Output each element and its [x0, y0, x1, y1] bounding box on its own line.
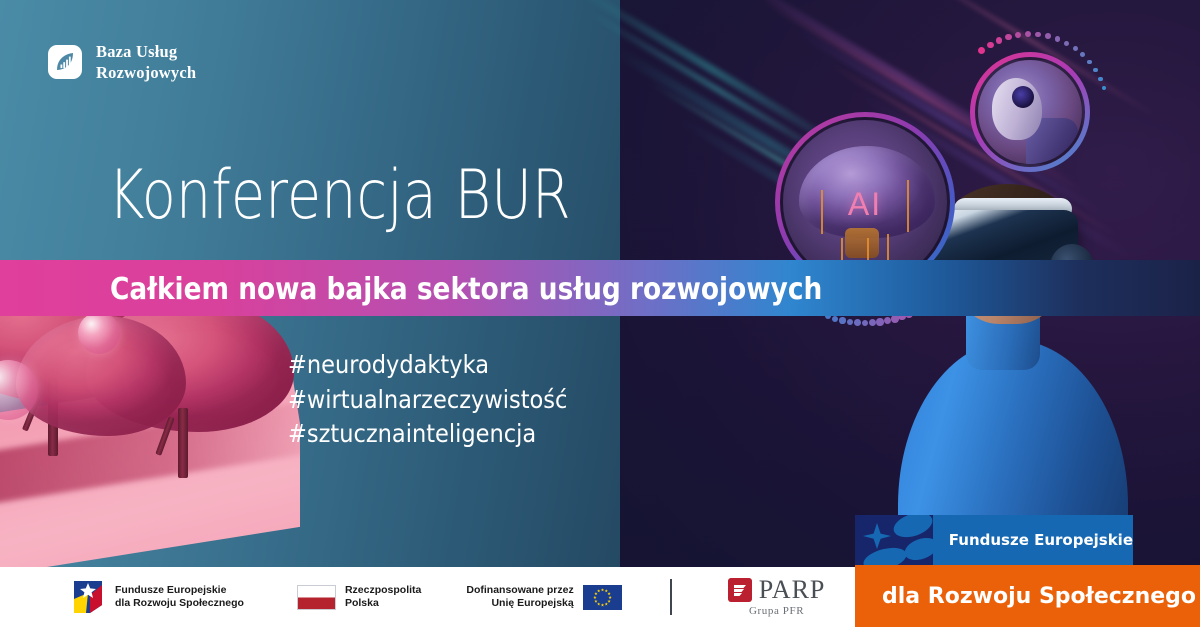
leaf-chart-icon	[48, 45, 82, 79]
footer-poland-line1: Rzeczpospolita	[345, 584, 421, 597]
footer-eu-cofunding-text: Dofinansowane przez Unię Europejską	[466, 584, 573, 611]
arc-dot	[854, 319, 861, 326]
footer-eu-funds-line1: Fundusze Europejskie	[115, 584, 244, 597]
footer-eu-cofunding-line1: Dofinansowane przez	[466, 584, 573, 597]
arc-dot	[862, 320, 869, 327]
footer-eu-cofunding-line2: Unię Europejską	[466, 597, 573, 610]
arc-dot	[869, 319, 876, 326]
footer-eu-funds: Fundusze Europejskie dla Rozwoju Społecz…	[72, 579, 244, 615]
arc-dot	[832, 316, 838, 322]
eu-funds-stars-icon	[855, 515, 933, 565]
footer-eu-cofunding: Dofinansowane przez Unię Europejską	[466, 584, 621, 611]
footer-poland-text: Rzeczpospolita Polska	[345, 584, 421, 611]
promo-badge-bottom-label: dla Rozwoju Społecznego	[855, 584, 1196, 609]
conference-poster: AI Baza Usług Rozwojowych	[0, 0, 1200, 627]
promo-badge-top-label: Fundusze Europejskie	[933, 531, 1133, 549]
parp-name: PARP	[759, 577, 826, 603]
bur-logo: Baza Usług Rozwojowych	[48, 41, 196, 83]
eu-flag-icon	[583, 585, 622, 610]
bur-logo-line1: Baza Usług	[96, 41, 196, 62]
parp-row: PARP	[728, 577, 826, 603]
promo-badge-bottom: dla Rozwoju Społecznego	[855, 565, 1200, 627]
poland-flag-icon	[297, 585, 336, 610]
hashtag-item: #neurodydaktyka	[288, 348, 567, 383]
arc-dot	[876, 318, 883, 325]
footer-divider	[670, 579, 672, 615]
subtitle-text: Całkiem nowa bajka sektora usług rozwojo…	[110, 272, 822, 307]
eu-funds-stars-icon	[72, 579, 106, 615]
footer-eu-funds-line2: dla Rozwoju Społecznego	[115, 597, 244, 610]
parp-subtitle: Grupa PFR	[749, 605, 804, 617]
footer-eu-funds-text: Fundusze Europejskie dla Rozwoju Społecz…	[115, 584, 244, 611]
hashtag-list: #neurodydaktyka #wirtualnarzeczywistość …	[288, 348, 567, 452]
arc-dot	[847, 319, 854, 326]
hashtag-item: #wirtualnarzeczywistość	[288, 383, 567, 418]
page-title: Konferencja BUR	[108, 162, 571, 230]
footer-logo-bar: Fundusze Europejskie dla Rozwoju Społecz…	[0, 567, 855, 627]
footer-parp: PARP Grupa PFR	[728, 577, 826, 617]
footer-poland-line2: Polska	[345, 597, 421, 610]
bur-logo-line2: Rozwojowych	[96, 62, 196, 83]
parp-mark-icon	[728, 578, 752, 602]
footer-poland: Rzeczpospolita Polska	[297, 584, 421, 611]
bur-logo-text: Baza Usług Rozwojowych	[96, 41, 196, 83]
arc-dot	[839, 317, 845, 323]
promo-badge-top: Fundusze Europejskie	[855, 515, 1133, 565]
hashtag-item: #sztucznainteligencja	[288, 417, 567, 452]
